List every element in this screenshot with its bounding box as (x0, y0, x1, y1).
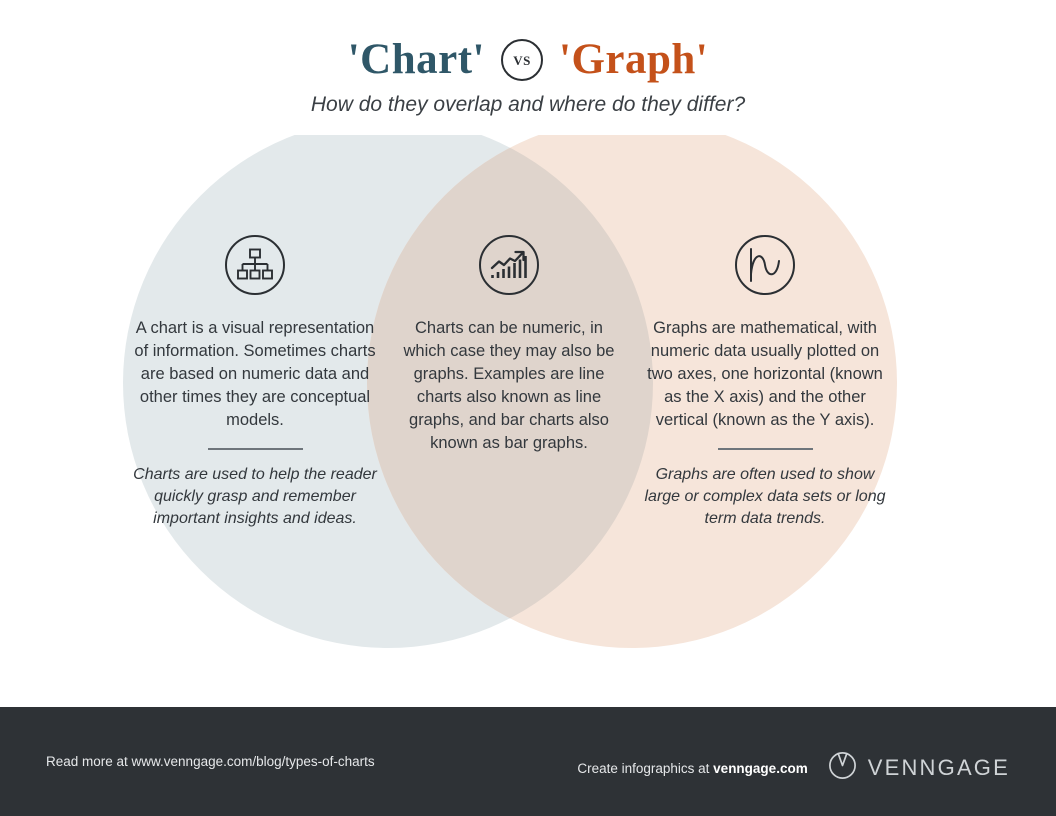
venngage-circle-icon (828, 751, 857, 785)
venn-section-center: Charts can be numeric, in which case the… (396, 235, 622, 455)
bar-chart-trend-icon (479, 235, 539, 295)
left-divider (208, 448, 303, 450)
footer-right-group: Create infographics at venngage.com VENN… (577, 751, 1010, 785)
title-word-graph: 'Graph' (559, 38, 708, 81)
read-more-link[interactable]: Read more at www.venngage.com/blog/types… (46, 754, 375, 769)
cta-prefix: Create infographics at (577, 761, 713, 776)
right-divider (718, 448, 813, 450)
venngage-wordmark: VENNGAGE (868, 755, 1010, 781)
left-body-text: A chart is a visual representation of in… (132, 317, 378, 432)
header: 'Chart' vs 'Graph' How do they overlap a… (0, 0, 1056, 135)
venn-diagram: A chart is a visual representation of in… (0, 135, 1056, 707)
title-word-chart: 'Chart' (348, 38, 485, 81)
vs-badge: vs (501, 39, 543, 81)
venn-section-right: Graphs are mathematical, with numeric da… (642, 235, 888, 531)
venngage-logo-lockup[interactable]: VENNGAGE (828, 751, 1010, 785)
right-note-text: Graphs are often used to show large or c… (642, 464, 888, 531)
left-note-text: Charts are used to help the reader quick… (132, 464, 378, 531)
venn-section-left: A chart is a visual representation of in… (132, 235, 378, 531)
wave-graph-icon (735, 235, 795, 295)
page-subtitle: How do they overlap and where do they di… (0, 93, 1056, 117)
right-body-text: Graphs are mathematical, with numeric da… (642, 317, 888, 432)
page-title: 'Chart' vs 'Graph' (0, 38, 1056, 81)
cta-brand: venngage.com (713, 761, 808, 776)
vs-badge-label: vs (513, 50, 531, 69)
footer: Read more at www.venngage.com/blog/types… (0, 707, 1056, 816)
center-body-text: Charts can be numeric, in which case the… (396, 317, 622, 455)
org-chart-icon (225, 235, 285, 295)
create-infographics-cta[interactable]: Create infographics at venngage.com (577, 761, 807, 776)
